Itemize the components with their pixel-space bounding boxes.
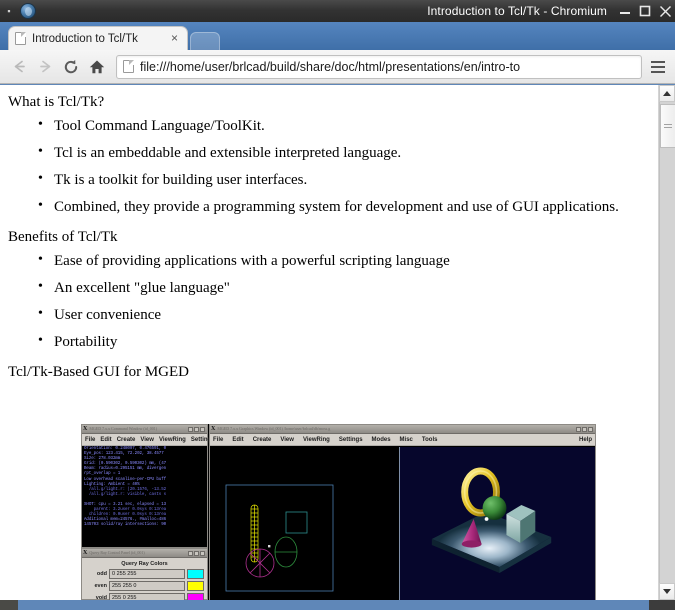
window-titlebar: ▪ Introduction to Tcl/Tk - Chromium bbox=[0, 0, 675, 22]
section-heading-mged-gui: Tcl/Tk-Based GUI for MGED bbox=[8, 363, 648, 381]
qrc-label-even: even bbox=[85, 583, 107, 589]
qrc-titlebar: X Query Ray Control Panel (id_001) bbox=[82, 549, 207, 558]
bottom-left-segment bbox=[0, 600, 18, 610]
query-ray-control-panel: X Query Ray Control Panel (id_001) Query… bbox=[81, 548, 208, 600]
minimize-icon[interactable] bbox=[188, 427, 193, 432]
scroll-down-icon[interactable] bbox=[659, 583, 675, 600]
tab-introduction-to-tcl-tk[interactable]: Introduction to Tcl/Tk × bbox=[8, 26, 188, 50]
list-item: Tool Command Language/ToolKit. bbox=[8, 117, 648, 135]
mged-console-output[interactable]: Orientation: 0.248097, 0.476591, 0 Eye_p… bbox=[82, 446, 207, 547]
section-heading-what-is-tcltk: What is Tcl/Tk? bbox=[8, 93, 648, 111]
home-icon[interactable] bbox=[84, 54, 110, 80]
menu-edit[interactable]: Edit bbox=[100, 436, 111, 444]
menu-tools[interactable]: Tools bbox=[422, 436, 438, 444]
list-item: Ease of providing applications with a po… bbox=[8, 252, 648, 270]
menu-file[interactable]: File bbox=[213, 436, 223, 444]
menu-help[interactable]: Help bbox=[579, 437, 592, 443]
vertical-scrollbar[interactable] bbox=[658, 85, 675, 600]
mged-command-titlebar: X MGED 7.x.x Command Window (id_001) bbox=[82, 425, 207, 434]
minimize-button[interactable] bbox=[615, 0, 635, 22]
hamburger-menu-icon[interactable] bbox=[647, 54, 669, 80]
scrollbar-track[interactable] bbox=[659, 102, 675, 583]
menu-viewring[interactable]: ViewRing bbox=[303, 436, 330, 444]
list-item: Combined, they provide a programming sys… bbox=[8, 198, 648, 216]
qrc-value-void[interactable]: 255 0 255 bbox=[109, 593, 185, 600]
mged-command-menubar: File Edit Create View ViewRing Settings bbox=[82, 434, 207, 446]
menu-viewring[interactable]: ViewRing bbox=[159, 436, 186, 444]
maximize-icon[interactable] bbox=[194, 427, 199, 432]
address-bar[interactable]: file:///home/user/brlcad/build/share/doc… bbox=[116, 55, 642, 79]
list-item: User convenience bbox=[8, 306, 648, 324]
bullet-list-what-is-tcltk: Tool Command Language/ToolKit. Tcl is an… bbox=[8, 117, 648, 216]
mged-graphics-menubar: File Edit Create View ViewRing Settings … bbox=[210, 434, 595, 446]
minimize-icon[interactable] bbox=[188, 551, 193, 556]
qrc-swatch-odd[interactable] bbox=[187, 569, 204, 579]
maximize-icon[interactable] bbox=[194, 551, 199, 556]
mged-graphics-title: MGED 7.x.x Graphics Window (id_001) /hom… bbox=[217, 425, 576, 433]
mged-wireframe-canvas[interactable] bbox=[210, 447, 398, 600]
new-tab-button[interactable] bbox=[190, 32, 220, 50]
list-item: Tk is a toolkit for building user interf… bbox=[8, 171, 648, 189]
mged-screenshot-figure: X MGED 7.x.x Command Window (id_001) Fil… bbox=[81, 424, 596, 600]
close-icon[interactable] bbox=[588, 427, 593, 432]
chevron-down-icon bbox=[663, 589, 671, 594]
mged-command-window: X MGED 7.x.x Command Window (id_001) Fil… bbox=[81, 424, 208, 548]
mged-command-window-buttons[interactable] bbox=[188, 427, 205, 432]
window-title: Introduction to Tcl/Tk - Chromium bbox=[36, 4, 615, 18]
page-viewport: What is Tcl/Tk? Tool Command Language/To… bbox=[0, 85, 675, 600]
menu-settings[interactable]: Settings bbox=[339, 436, 363, 444]
list-item: Tcl is an embeddable and extensible inte… bbox=[8, 144, 648, 162]
window-bottom-edge bbox=[0, 600, 675, 610]
mged-graphics-titlebar: X MGED 7.x.x Graphics Window (id_001) /h… bbox=[210, 425, 595, 434]
close-button[interactable] bbox=[655, 0, 675, 22]
menu-edit[interactable]: Edit bbox=[232, 436, 243, 444]
close-icon[interactable] bbox=[200, 551, 205, 556]
qrc-swatch-void[interactable] bbox=[187, 593, 204, 600]
menu-modes[interactable]: Modes bbox=[372, 436, 391, 444]
qrc-row-even: even 255 255 0 bbox=[85, 581, 204, 591]
qrc-row-odd: odd 0 255 255 bbox=[85, 569, 204, 579]
mged-graphics-window-buttons[interactable] bbox=[576, 427, 593, 432]
menu-file[interactable]: File bbox=[85, 436, 95, 444]
menu-misc[interactable]: Misc bbox=[400, 436, 413, 444]
mged-graphics-window: X MGED 7.x.x Graphics Window (id_001) /h… bbox=[209, 424, 596, 600]
menu-create[interactable]: Create bbox=[253, 436, 272, 444]
x11-logo-icon: X bbox=[83, 549, 87, 557]
scrollbar-thumb[interactable] bbox=[660, 104, 675, 148]
menu-view[interactable]: View bbox=[280, 436, 294, 444]
reload-icon[interactable] bbox=[58, 54, 84, 80]
menu-view[interactable]: View bbox=[140, 436, 154, 444]
x11-logo-icon: X bbox=[211, 425, 215, 433]
browser-toolbar: file:///home/user/brlcad/build/share/doc… bbox=[0, 50, 675, 84]
tab-close-icon[interactable]: × bbox=[168, 32, 181, 45]
page-content: What is Tcl/Tk? Tool Command Language/To… bbox=[0, 85, 658, 600]
bullet-list-benefits: Ease of providing applications with a po… bbox=[8, 252, 648, 351]
scroll-up-icon[interactable] bbox=[659, 85, 675, 102]
minimize-icon[interactable] bbox=[576, 427, 581, 432]
browser-window: ▪ Introduction to Tcl/Tk - Chromium Intr… bbox=[0, 0, 675, 610]
maximize-icon[interactable] bbox=[582, 427, 587, 432]
qrc-value-odd[interactable]: 0 255 255 bbox=[109, 569, 185, 579]
qrc-value-even[interactable]: 255 255 0 bbox=[109, 581, 185, 591]
address-bar-url: file:///home/user/brlcad/build/share/doc… bbox=[140, 60, 520, 74]
qrc-row-void: void 255 0 255 bbox=[85, 593, 204, 600]
page-favicon-icon bbox=[15, 32, 26, 45]
menu-create[interactable]: Create bbox=[117, 436, 136, 444]
tab-strip: Introduction to Tcl/Tk × bbox=[0, 22, 675, 50]
tab-label: Introduction to Tcl/Tk bbox=[32, 33, 168, 45]
mged-command-title: MGED 7.x.x Command Window (id_001) bbox=[89, 425, 188, 433]
omnibox-page-icon bbox=[123, 60, 134, 73]
mged-canvas-area bbox=[210, 446, 595, 600]
forward-icon[interactable] bbox=[32, 54, 58, 80]
x11-logo-icon: X bbox=[83, 425, 87, 433]
qrc-swatch-even[interactable] bbox=[187, 581, 204, 591]
bottom-right-segment bbox=[649, 600, 675, 610]
chevron-up-icon bbox=[663, 91, 671, 96]
list-item: An excellent "glue language" bbox=[8, 279, 648, 297]
window-menu-dot: ▪ bbox=[0, 0, 18, 22]
back-icon[interactable] bbox=[6, 54, 32, 80]
section-heading-benefits: Benefits of Tcl/Tk bbox=[8, 228, 648, 246]
console-line: 145703 solid/ray intersections: 90 bbox=[84, 523, 205, 528]
qrc-window-buttons[interactable] bbox=[188, 551, 205, 556]
maximize-button[interactable] bbox=[635, 0, 655, 22]
list-item: Portability bbox=[8, 333, 648, 351]
qrc-heading: Query Ray Colors bbox=[82, 558, 207, 569]
qrc-title-text: Query Ray Control Panel (id_001) bbox=[89, 549, 188, 557]
close-icon[interactable] bbox=[200, 427, 205, 432]
chromium-logo-icon bbox=[20, 3, 36, 19]
qrc-label-odd: odd bbox=[85, 571, 107, 577]
mged-raytrace-canvas[interactable] bbox=[399, 447, 595, 600]
